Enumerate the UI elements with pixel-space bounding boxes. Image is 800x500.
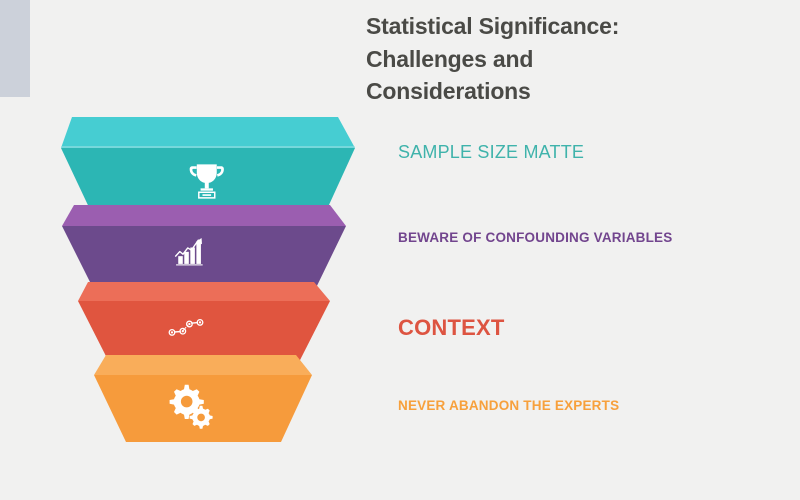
funnel-layer-1-top-face [61,117,355,148]
funnel-layer-3[interactable] [78,282,330,366]
funnel-label-confounding-variables: BEWARE OF CONFOUNDING VARIABLES [398,228,672,248]
funnel-label-context: CONTEXT [398,313,505,342]
funnel-chart [0,0,380,500]
funnel-layer-1-seam [61,146,355,148]
funnel-layer-4-body [94,375,312,442]
funnel-layer-2[interactable] [62,205,346,294]
funnel-layer-2-top-face [62,205,346,226]
funnel-labels: SAMPLE SIZE MATTE BEWARE OF CONFOUNDING … [398,0,778,500]
funnel-layer-4[interactable] [94,355,312,442]
funnel-label-never-abandon-experts: NEVER ABANDON THE EXPERTS [398,395,619,417]
funnel-layer-4-top-face [94,355,312,375]
funnel-label-sample-size: SAMPLE SIZE MATTE [398,141,584,165]
funnel-layer-3-top-face [78,282,330,301]
funnel-layer-1[interactable] [61,117,355,218]
